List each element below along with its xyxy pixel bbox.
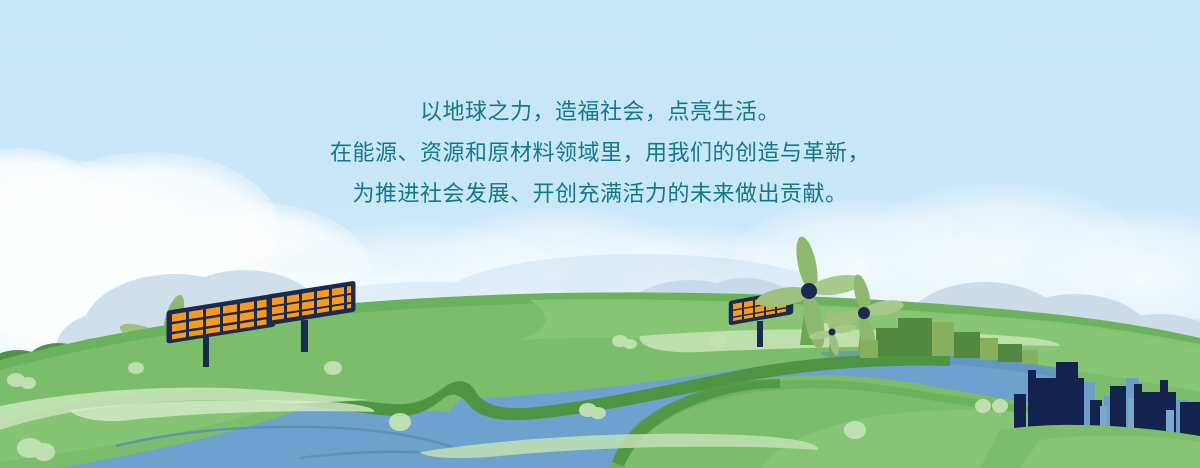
eco-hero-banner: 以地球之力，造福社会，点亮生活。 在能源、资源和原材料领域里，用我们的创造与革新… [0, 0, 1200, 468]
illustration-scene [0, 0, 1200, 468]
